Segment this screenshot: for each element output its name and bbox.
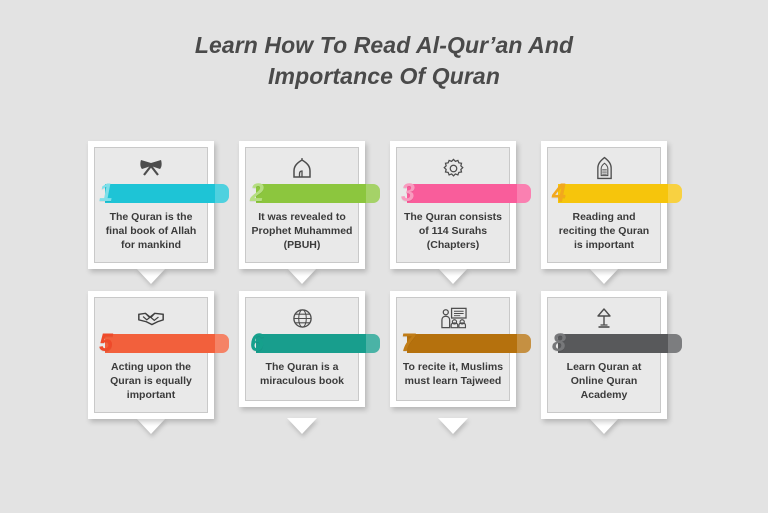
card-6-inner: 6 The Quran is a miraculous book bbox=[245, 297, 359, 401]
card-4-ribbon: 4 bbox=[552, 183, 656, 204]
card-2-body: 2 It was revealed to Prophet Muhammed (P… bbox=[239, 141, 365, 269]
card-8-ribbon: 8 bbox=[552, 333, 656, 354]
card-1-body: 1 The Quran is the final book of Allah f… bbox=[88, 141, 214, 269]
card-grid: 1 The Quran is the final book of Allah f… bbox=[88, 141, 688, 419]
gear-icon bbox=[443, 155, 464, 181]
card-1-tail bbox=[136, 268, 166, 284]
card-1-number: 1 bbox=[99, 179, 113, 207]
card-6-tail bbox=[287, 418, 317, 434]
globe-icon bbox=[292, 305, 313, 331]
card-8-tail bbox=[589, 418, 619, 434]
card-8[interactable]: 8 Learn Quran at Online Quran Academy bbox=[541, 291, 667, 419]
card-4-tail bbox=[589, 268, 619, 284]
infographic-page: { "page": { "background_color": "#e3e3e3… bbox=[0, 0, 768, 513]
card-6-text: The Quran is a miraculous book bbox=[250, 360, 354, 388]
card-5-tail bbox=[136, 418, 166, 434]
card-3-body: 3 The Quran consists of 114 Surahs (Chap… bbox=[390, 141, 516, 269]
card-5-body: 5 Acting upon the Quran is equally impor… bbox=[88, 291, 214, 419]
card-7-ribbon: 7 bbox=[401, 333, 505, 354]
card-3-ribbon-bar bbox=[407, 184, 531, 203]
card-5-text: Acting upon the Quran is equally importa… bbox=[99, 360, 203, 402]
card-5-ribbon: 5 bbox=[99, 333, 203, 354]
card-6-number: 6 bbox=[250, 329, 264, 357]
card-1-text: The Quran is the final book of Allah for… bbox=[99, 210, 203, 252]
book-stand-icon bbox=[139, 155, 163, 181]
card-7[interactable]: 7 To recite it, Muslims must learn Tajwe… bbox=[390, 291, 516, 419]
card-4[interactable]: 4 Reading and reciting the Quran is impo… bbox=[541, 141, 667, 269]
card-5-number: 5 bbox=[99, 329, 113, 357]
card-3[interactable]: 3 The Quran consists of 114 Surahs (Chap… bbox=[390, 141, 516, 269]
handshake-icon bbox=[137, 305, 165, 331]
card-6-ribbon: 6 bbox=[250, 333, 354, 354]
card-8-ribbon-bar bbox=[558, 334, 682, 353]
mihrab-arch-icon bbox=[595, 155, 614, 181]
card-3-ribbon: 3 bbox=[401, 183, 505, 204]
card-2-number: 2 bbox=[250, 179, 264, 207]
card-8-inner: 8 Learn Quran at Online Quran Academy bbox=[547, 297, 661, 413]
card-4-number: 4 bbox=[552, 179, 566, 207]
card-1-ribbon-bar bbox=[105, 184, 229, 203]
card-4-ribbon-bar bbox=[558, 184, 682, 203]
page-title: Learn How To Read Al-Qur’an And Importan… bbox=[0, 30, 768, 92]
card-2-ribbon: 2 bbox=[250, 183, 354, 204]
card-5[interactable]: 5 Acting upon the Quran is equally impor… bbox=[88, 291, 214, 419]
card-7-number: 7 bbox=[401, 329, 415, 357]
card-3-text: The Quran consists of 114 Surahs (Chapte… bbox=[401, 210, 505, 252]
card-1-ribbon: 1 bbox=[99, 183, 203, 204]
card-4-body: 4 Reading and reciting the Quran is impo… bbox=[541, 141, 667, 269]
card-3-number: 3 bbox=[401, 179, 415, 207]
mosque-dome-icon bbox=[291, 155, 313, 181]
card-2-text: It was revealed to Prophet Muhammed (PBU… bbox=[250, 210, 354, 252]
card-8-body: 8 Learn Quran at Online Quran Academy bbox=[541, 291, 667, 419]
card-5-inner: 5 Acting upon the Quran is equally impor… bbox=[94, 297, 208, 413]
card-5-ribbon-bar bbox=[105, 334, 229, 353]
card-7-tail bbox=[438, 418, 468, 434]
desk-lamp-icon bbox=[594, 305, 614, 331]
page-title-line-1: Learn How To Read Al-Qur’an And bbox=[0, 30, 768, 61]
page-title-line-2: Importance Of Quran bbox=[0, 61, 768, 92]
card-2-tail bbox=[287, 268, 317, 284]
card-7-body: 7 To recite it, Muslims must learn Tajwe… bbox=[390, 291, 516, 407]
card-6[interactable]: 6 The Quran is a miraculous book bbox=[239, 291, 365, 419]
classroom-teaching-icon bbox=[440, 305, 467, 331]
card-7-inner: 7 To recite it, Muslims must learn Tajwe… bbox=[396, 297, 510, 401]
card-3-inner: 3 The Quran consists of 114 Surahs (Chap… bbox=[396, 147, 510, 263]
card-1-inner: 1 The Quran is the final book of Allah f… bbox=[94, 147, 208, 263]
card-2-inner: 2 It was revealed to Prophet Muhammed (P… bbox=[245, 147, 359, 263]
card-7-text: To recite it, Muslims must learn Tajweed bbox=[401, 360, 505, 388]
card-1[interactable]: 1 The Quran is the final book of Allah f… bbox=[88, 141, 214, 269]
card-2-ribbon-bar bbox=[256, 184, 380, 203]
card-8-text: Learn Quran at Online Quran Academy bbox=[552, 360, 656, 402]
card-6-body: 6 The Quran is a miraculous book bbox=[239, 291, 365, 407]
card-7-ribbon-bar bbox=[407, 334, 531, 353]
card-8-number: 8 bbox=[552, 329, 566, 357]
card-6-ribbon-bar bbox=[256, 334, 380, 353]
card-4-inner: 4 Reading and reciting the Quran is impo… bbox=[547, 147, 661, 263]
card-3-tail bbox=[438, 268, 468, 284]
card-2[interactable]: 2 It was revealed to Prophet Muhammed (P… bbox=[239, 141, 365, 269]
card-4-text: Reading and reciting the Quran is import… bbox=[552, 210, 656, 252]
